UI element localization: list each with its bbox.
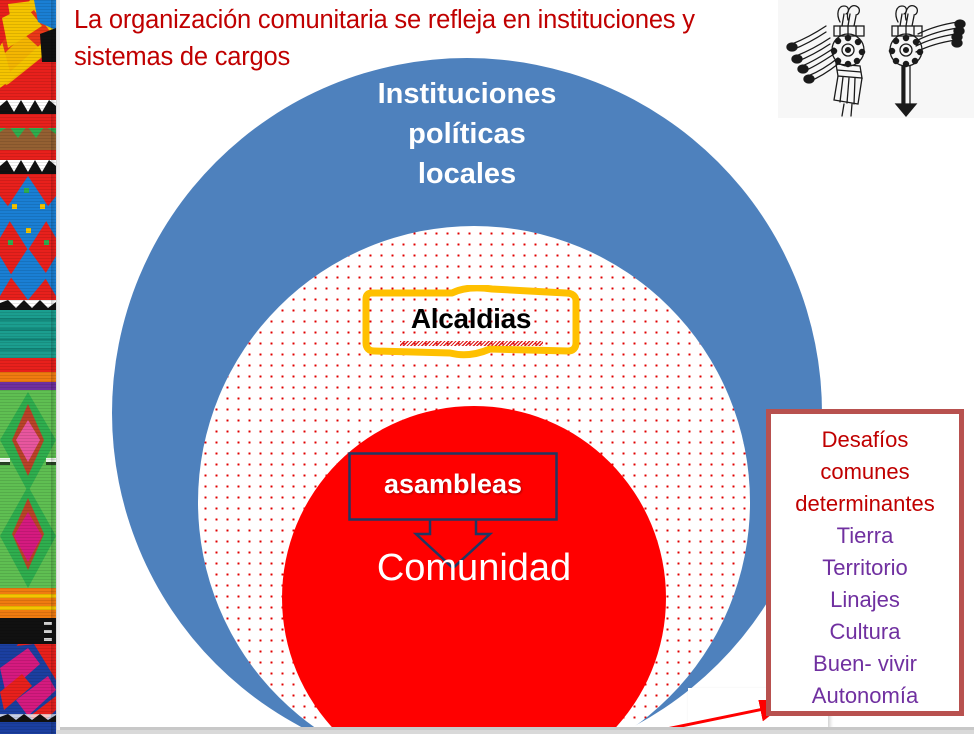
mayan-textile-strip — [0, 0, 56, 734]
asambleas-label: asambleas — [348, 469, 558, 500]
desafios-line-2: comunes — [820, 456, 909, 488]
textile-edge-shadow — [51, 0, 56, 734]
desafios-line-8: Buen- vivir — [813, 648, 917, 680]
desafios-line-9: Autonomía — [812, 680, 918, 712]
alcaldias-label: Alcaldias — [360, 303, 582, 335]
desafios-line-5: Territorio — [822, 552, 908, 584]
textile-pattern — [0, 0, 56, 734]
slide-body: Instituciones políticas locales Alcaldia… — [60, 0, 974, 727]
desafios-line-1: Desafíos — [822, 424, 909, 456]
page-title: La organización comunitaria se refleja e… — [74, 2, 794, 76]
slide-bottom-edge — [60, 727, 974, 730]
outer-circle-label-line-1: Instituciones — [112, 74, 822, 114]
outer-circle-label-line-2: políticas — [112, 114, 822, 154]
comunidad-label: Comunidad — [282, 547, 666, 590]
slide-canvas: Instituciones políticas locales Alcaldia… — [0, 0, 974, 734]
outer-circle-label-line-3: locales — [112, 154, 822, 194]
spellcheck-underline — [400, 341, 543, 346]
mesoamerican-staff-image — [778, 0, 974, 118]
desafios-line-3: determinantes — [795, 488, 934, 520]
codex-drawing — [778, 0, 974, 118]
desafios-line-7: Cultura — [830, 616, 901, 648]
desafios-line-6: Linajes — [830, 584, 900, 616]
desafios-box: Desafíos comunes determinantes Tierra Te… — [766, 409, 964, 716]
outer-circle-label: Instituciones políticas locales — [112, 74, 822, 194]
desafios-line-4: Tierra — [837, 520, 894, 552]
